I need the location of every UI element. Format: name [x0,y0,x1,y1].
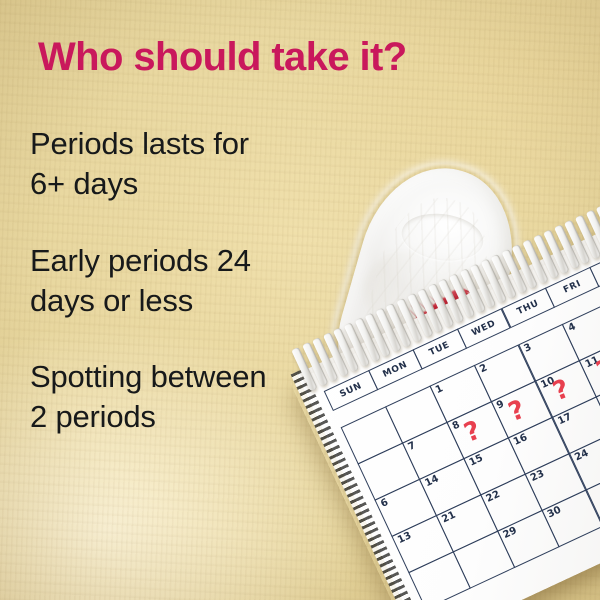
symptom-1-line-2: 6+ days [30,164,249,204]
symptom-item-3: Spotting between 2 periods [30,357,266,437]
symptom-item-1: Periods lasts for 6+ days [30,124,249,204]
symptom-1-line-1: Periods lasts for [30,126,249,161]
symptom-3-line-2: 2 periods [30,397,266,437]
poster-canvas: SUNMONTUEWEDTHUFRISAT1234578?9?10?11?12?… [0,0,600,600]
symptom-3-line-1: Spotting between [30,359,266,394]
page-title: Who should take it? [38,36,407,78]
symptom-item-2: Early periods 24 days or less [30,241,251,321]
symptom-2-line-1: Early periods 24 [30,243,251,278]
symptom-2-line-2: days or less [30,281,251,321]
